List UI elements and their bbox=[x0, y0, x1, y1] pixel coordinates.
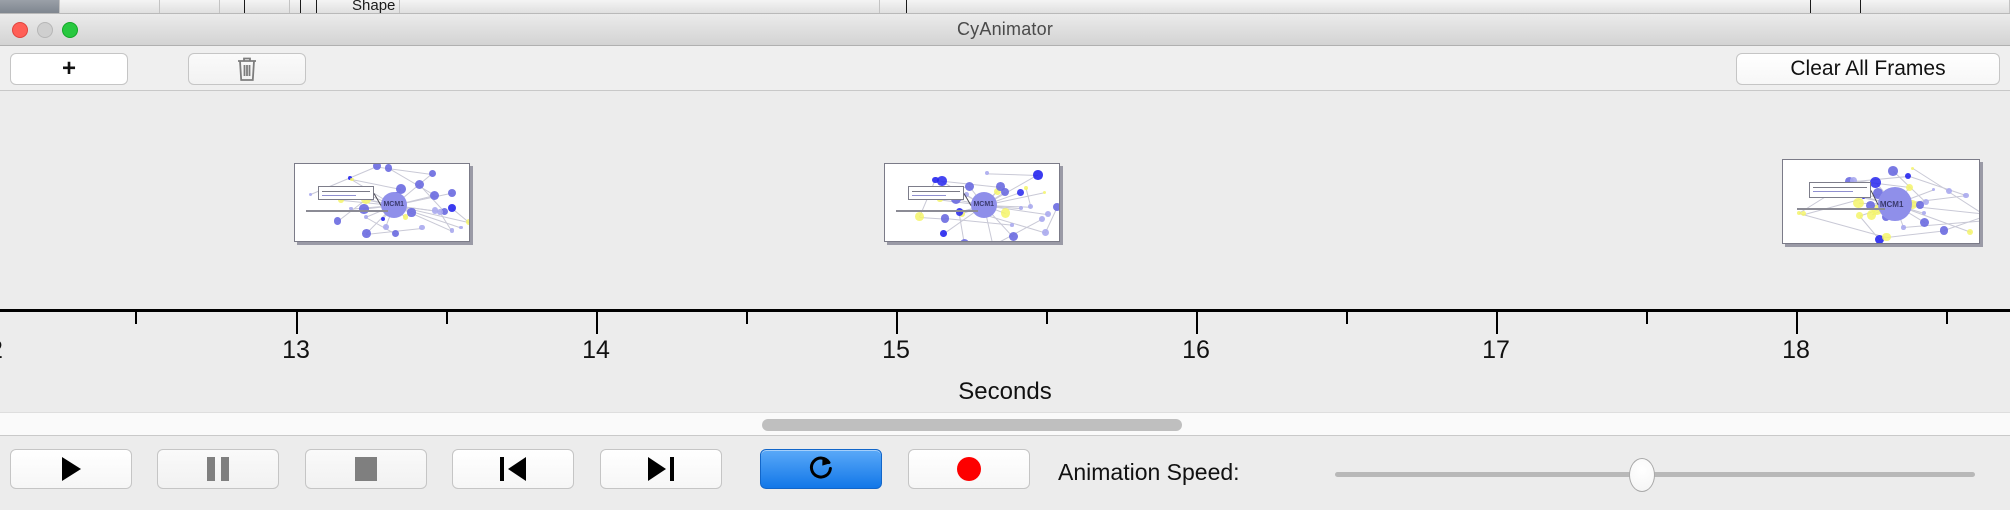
title-bar: CyAnimator bbox=[0, 14, 2010, 46]
network-graph-preview: MCM1 bbox=[295, 164, 469, 241]
network-node bbox=[1922, 211, 1926, 215]
network-tooltip-callout bbox=[1809, 182, 1871, 198]
axis-tick-label: 17 bbox=[1482, 336, 1510, 365]
axis-tick-label: 14 bbox=[582, 336, 610, 365]
network-node bbox=[937, 176, 946, 185]
network-node bbox=[1028, 204, 1033, 209]
network-node bbox=[309, 193, 312, 196]
axis-tick-major bbox=[896, 312, 898, 334]
cyanimator-window: Shape CyAnimator + Clear All Fra bbox=[0, 0, 2010, 510]
axis-tick-minor bbox=[746, 312, 748, 324]
axis-tick-minor bbox=[1946, 312, 1948, 324]
network-node bbox=[1045, 211, 1051, 217]
close-button[interactable] bbox=[12, 22, 28, 38]
timeline-panel[interactable]: 2131415161718 MCM1MCM1MCM1 Seconds bbox=[0, 91, 2010, 412]
network-node bbox=[450, 228, 454, 232]
network-node bbox=[1010, 223, 1014, 227]
tooltip-text-line bbox=[322, 191, 370, 192]
network-node bbox=[1001, 208, 1010, 217]
clear-all-frames-button[interactable]: Clear All Frames bbox=[1736, 53, 2000, 85]
network-node bbox=[1967, 229, 1973, 235]
network-node bbox=[373, 163, 381, 170]
axis-tick-major bbox=[1496, 312, 1498, 334]
axis-tick-major bbox=[1196, 312, 1198, 334]
network-node bbox=[407, 208, 415, 216]
network-node bbox=[385, 164, 393, 172]
network-edge bbox=[987, 173, 1037, 176]
tooltip-text-line bbox=[1813, 191, 1853, 192]
plus-icon: + bbox=[62, 55, 76, 83]
network-node bbox=[415, 180, 424, 189]
network-node bbox=[1870, 177, 1881, 188]
stop-button[interactable] bbox=[305, 449, 427, 489]
network-edge bbox=[1887, 230, 1944, 238]
skip-next-icon bbox=[648, 457, 674, 481]
network-tooltip-callout bbox=[318, 186, 374, 200]
network-node bbox=[1033, 170, 1043, 180]
network-node bbox=[1039, 216, 1045, 222]
network-node bbox=[381, 217, 385, 221]
network-node bbox=[965, 182, 974, 191]
axis-title: Seconds bbox=[0, 378, 2010, 406]
playback-bar: Animation Speed: bbox=[0, 437, 2010, 510]
network-node bbox=[932, 177, 938, 183]
axis-tick-minor bbox=[446, 312, 448, 324]
frame-toolbar: + Clear All Frames bbox=[0, 46, 2010, 91]
play-icon bbox=[62, 457, 81, 481]
network-node bbox=[392, 230, 399, 237]
slider-thumb[interactable] bbox=[1629, 458, 1655, 492]
axis-tick-major bbox=[596, 312, 598, 334]
network-node bbox=[1042, 229, 1049, 236]
pause-button[interactable] bbox=[157, 449, 279, 489]
loop-button[interactable] bbox=[760, 449, 882, 489]
network-hub-label: MCM1 bbox=[383, 201, 404, 208]
network-node bbox=[1017, 189, 1024, 196]
network-node bbox=[429, 170, 436, 177]
network-node bbox=[1963, 193, 1969, 199]
timeline-frame-thumbnail[interactable]: MCM1 bbox=[294, 163, 470, 242]
animation-speed-slider[interactable] bbox=[1335, 467, 1975, 481]
network-node bbox=[960, 239, 970, 242]
tooltip-text-line bbox=[912, 195, 946, 196]
axis-tick-label: 13 bbox=[282, 336, 310, 365]
network-node bbox=[1940, 226, 1949, 235]
clear-all-frames-label: Clear All Frames bbox=[1790, 57, 1945, 81]
skip-previous-icon bbox=[500, 457, 526, 481]
network-node bbox=[359, 204, 368, 213]
minimize-button[interactable] bbox=[37, 22, 53, 38]
delete-frame-button[interactable] bbox=[188, 53, 306, 85]
network-node bbox=[1882, 233, 1891, 242]
axis-tick-minor bbox=[1646, 312, 1648, 324]
network-node bbox=[1888, 166, 1898, 176]
network-node bbox=[1905, 173, 1911, 179]
timeline-axis bbox=[0, 309, 2010, 312]
network-node bbox=[1053, 203, 1060, 211]
network-node bbox=[448, 189, 456, 197]
record-icon bbox=[957, 457, 981, 481]
next-frame-button[interactable] bbox=[600, 449, 722, 489]
timeline-scrollbar-thumb[interactable] bbox=[762, 419, 1182, 431]
network-node bbox=[1853, 198, 1864, 209]
background-window-label: Shape bbox=[352, 0, 395, 14]
axis-tick-minor bbox=[1046, 312, 1048, 324]
network-node bbox=[1856, 212, 1863, 219]
network-node bbox=[362, 229, 371, 238]
network-node bbox=[419, 225, 424, 230]
network-node bbox=[1932, 188, 1935, 191]
window-title: CyAnimator bbox=[957, 19, 1053, 40]
timeline-scrollbar[interactable] bbox=[0, 412, 2010, 436]
network-node bbox=[403, 214, 409, 220]
record-button[interactable] bbox=[908, 449, 1030, 489]
network-node bbox=[350, 178, 354, 182]
network-node bbox=[430, 191, 439, 200]
network-hub-label: MCM1 bbox=[973, 201, 994, 208]
play-button[interactable] bbox=[10, 449, 132, 489]
pause-icon bbox=[207, 457, 229, 481]
timeline-frame-thumbnail[interactable]: MCM1 bbox=[1782, 159, 1980, 244]
network-caption-line bbox=[1797, 208, 1885, 210]
axis-tick-label: 16 bbox=[1182, 336, 1210, 365]
network-node bbox=[985, 171, 989, 175]
stop-icon bbox=[355, 457, 377, 481]
trash-icon bbox=[235, 55, 259, 83]
network-node bbox=[459, 226, 462, 229]
loop-refresh-icon bbox=[808, 453, 834, 486]
axis-tick-label: 15 bbox=[882, 336, 910, 365]
network-caption-line bbox=[306, 210, 388, 212]
network-node bbox=[1001, 188, 1009, 196]
prev-frame-button[interactable] bbox=[452, 449, 574, 489]
network-node bbox=[383, 224, 389, 230]
axis-tick-major bbox=[296, 312, 298, 334]
network-node bbox=[1043, 191, 1046, 194]
animation-speed-label: Animation Speed: bbox=[1058, 459, 1240, 486]
network-tooltip-callout bbox=[908, 186, 964, 200]
axis-tick-major bbox=[1796, 312, 1798, 334]
network-graph-preview: MCM1 bbox=[885, 164, 1059, 241]
network-graph-preview: MCM1 bbox=[1783, 160, 1979, 243]
tooltip-text-line bbox=[1813, 187, 1867, 188]
network-caption-line bbox=[896, 210, 978, 212]
network-node bbox=[334, 217, 341, 224]
network-node bbox=[1901, 225, 1905, 229]
axis-tick-minor bbox=[135, 312, 137, 324]
add-frame-button[interactable]: + bbox=[10, 53, 128, 85]
network-edge bbox=[959, 213, 965, 242]
network-node bbox=[915, 212, 924, 221]
maximize-button[interactable] bbox=[62, 22, 78, 38]
axis-tick-minor bbox=[1346, 312, 1348, 324]
timeline-frame-thumbnail[interactable]: MCM1 bbox=[884, 163, 1060, 242]
axis-tick-label: 2 bbox=[0, 336, 3, 365]
network-node bbox=[466, 219, 470, 225]
network-node bbox=[940, 230, 947, 237]
network-node bbox=[1009, 232, 1019, 242]
network-node bbox=[1024, 186, 1028, 190]
network-node bbox=[941, 214, 950, 223]
background-window-strip: Shape bbox=[0, 0, 2010, 14]
network-node bbox=[1906, 184, 1913, 191]
window-traffic-lights[interactable] bbox=[12, 22, 78, 38]
network-node bbox=[1911, 167, 1914, 170]
tooltip-text-line bbox=[322, 195, 356, 196]
axis-tick-label: 18 bbox=[1782, 336, 1810, 365]
tooltip-text-line bbox=[912, 191, 960, 192]
